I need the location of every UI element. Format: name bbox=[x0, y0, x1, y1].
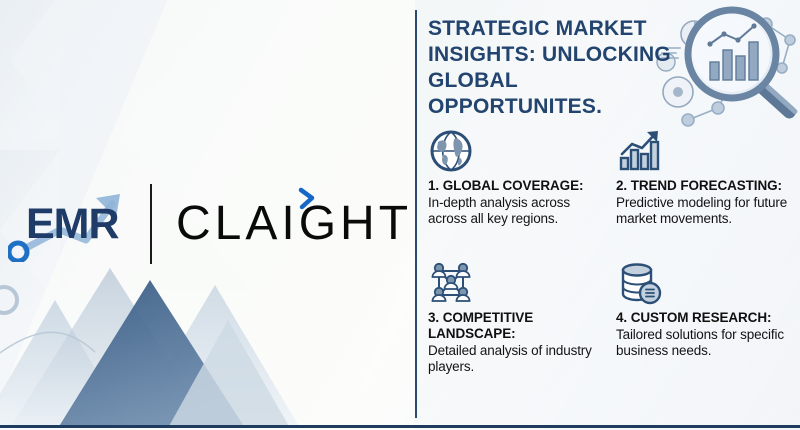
feature-item-global-coverage: 1. GLOBAL COVERAGE: In-depth analysis ac… bbox=[428, 128, 612, 227]
people-network-icon bbox=[428, 260, 474, 306]
feature-item-custom-research: 4. CUSTOM RESEARCH: Tailored solutions f… bbox=[616, 260, 800, 359]
feature-heading: 2. TREND FORECASTING: bbox=[616, 178, 800, 194]
chevron-right-icon bbox=[294, 186, 320, 212]
feature-item-competitive-landscape: 3. COMPETITIVE LANDSCAPE: Detailed analy… bbox=[428, 260, 612, 375]
emr-wordmark: EMR bbox=[26, 202, 119, 246]
page-title: Strategic Market Insights: Unlocking Glo… bbox=[428, 16, 680, 120]
feature-grid: 1. GLOBAL COVERAGE: In-depth analysis ac… bbox=[428, 128, 800, 418]
panel-divider bbox=[415, 10, 417, 418]
feature-body: Tailored solutions for specific business… bbox=[616, 327, 800, 359]
content-panel: Strategic Market Insights: Unlocking Glo… bbox=[428, 0, 800, 430]
feature-heading: 1. GLOBAL COVERAGE: bbox=[428, 178, 612, 194]
feature-item-trend-forecasting: 2. TREND FORECASTING: Predictive modelin… bbox=[616, 128, 800, 227]
logo-lockup: EMR CLAIGHT bbox=[8, 186, 408, 262]
globe-icon bbox=[428, 128, 474, 174]
emr-logo: EMR bbox=[8, 186, 148, 262]
claight-logo: CLAIGHT bbox=[176, 186, 408, 262]
feature-heading: 4. CUSTOM RESEARCH: bbox=[616, 310, 800, 326]
bar-chart-trend-up-icon bbox=[616, 128, 662, 174]
bottom-rule bbox=[0, 425, 800, 428]
brand-divider bbox=[150, 184, 152, 264]
promo-banner: EMR CLAIGHT bbox=[0, 0, 800, 430]
feature-heading: 3. COMPETITIVE LANDSCAPE: bbox=[428, 310, 612, 342]
database-research-icon bbox=[616, 260, 662, 306]
feature-body: Detailed analysis of industry players. bbox=[428, 343, 612, 375]
feature-body: Predictive modeling for future market mo… bbox=[616, 195, 800, 227]
feature-body: In-depth analysis across across all key … bbox=[428, 195, 612, 227]
brand-panel: EMR CLAIGHT bbox=[0, 0, 415, 430]
